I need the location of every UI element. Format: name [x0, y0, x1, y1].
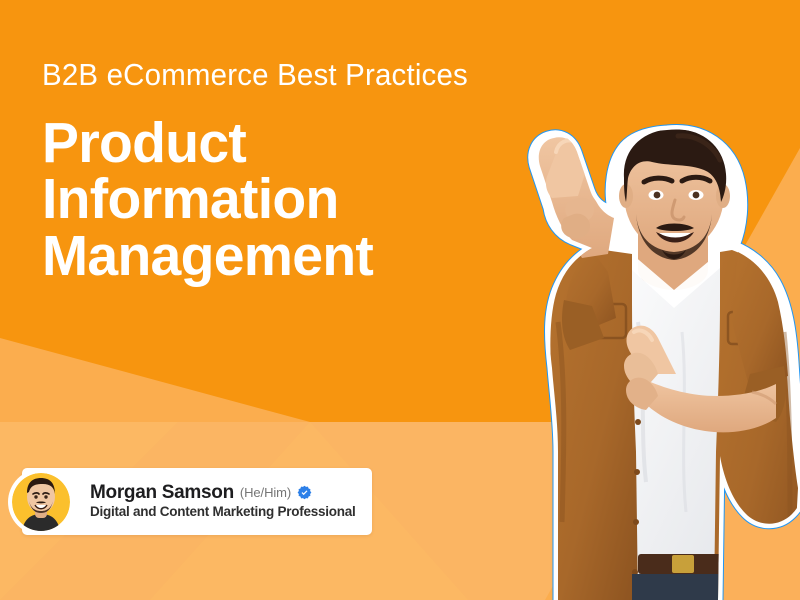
- presenter-name-card: Morgan Samson (He/Him) Digital and Conte…: [22, 468, 372, 535]
- presenter-name: Morgan Samson: [90, 483, 234, 502]
- headline-line-3: Management: [42, 228, 498, 284]
- presenter-name-row: Morgan Samson (He/Him): [90, 483, 356, 502]
- person-pointing-cutout: [432, 122, 800, 600]
- headline-line-2: Information: [42, 171, 498, 227]
- presenter-pronouns: (He/Him): [240, 486, 291, 499]
- verified-check-icon: [297, 485, 312, 500]
- avatar: [8, 469, 74, 535]
- presenter-details: Morgan Samson (He/Him) Digital and Conte…: [90, 483, 356, 520]
- eyebrow-text: B2B eCommerce Best Practices: [42, 58, 489, 93]
- promo-slide: B2B eCommerce Best Practices Product Inf…: [0, 0, 800, 600]
- presenter-role: Digital and Content Marketing Profession…: [90, 504, 356, 520]
- page-title: Product Information Management: [42, 115, 498, 284]
- headline-line-1: Product: [42, 115, 498, 171]
